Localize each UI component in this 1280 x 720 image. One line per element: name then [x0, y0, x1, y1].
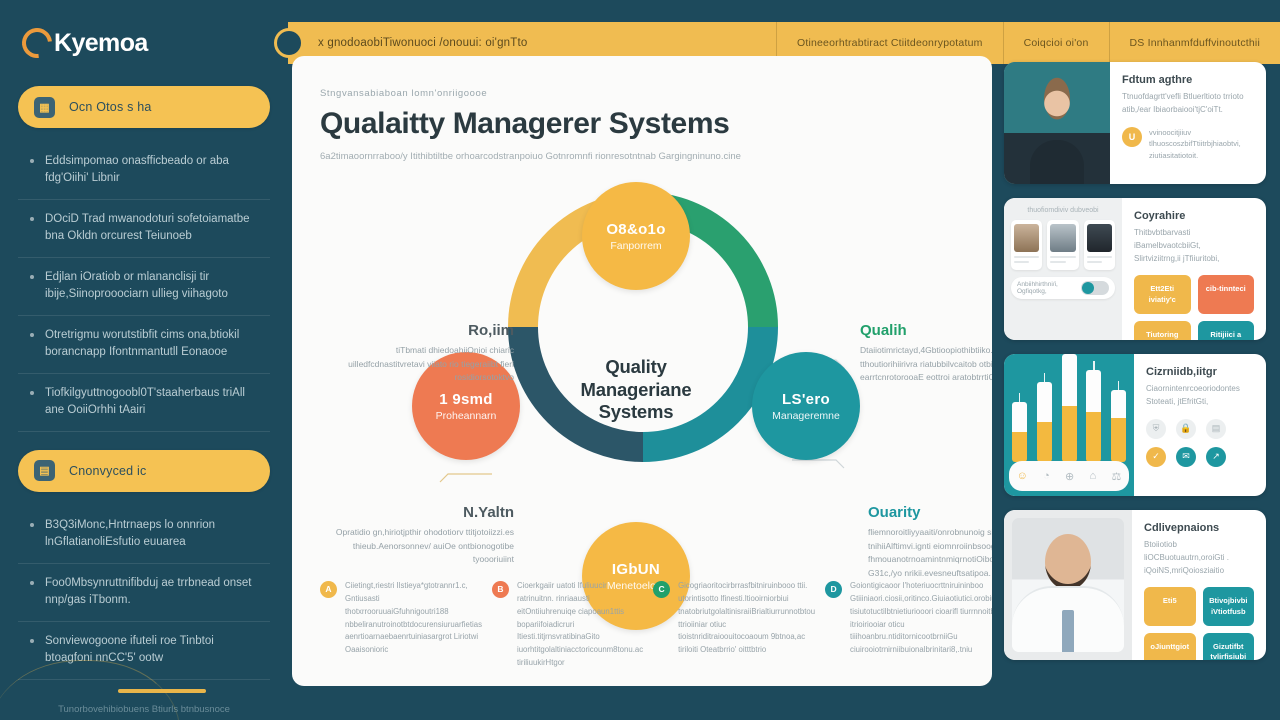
grid-heading: thuofiomdiviv dubveobi: [1011, 207, 1115, 214]
avatar: [1004, 62, 1110, 184]
card-candidates[interactable]: thuofiomdiviv dubveobi: [1004, 198, 1266, 340]
bullet-icon: [30, 159, 34, 163]
placeholder-line: [1050, 261, 1065, 263]
bar: [1012, 393, 1027, 462]
callout-top-right: Qualih Dtaiiotimrictayd,4Gbtioopiothibti…: [860, 322, 992, 385]
avatar: [1087, 224, 1112, 252]
circle-knob-icon[interactable]: [274, 28, 304, 58]
bar-base: [1012, 432, 1027, 462]
card-description: Ttnuofdagrtt'vefli Btluerltioto trrioto …: [1122, 91, 1254, 117]
avatar: [1014, 224, 1039, 252]
chart-bars: [1012, 370, 1126, 462]
sidebar-item-primary[interactable]: ▦ Ocn Otos s ha: [18, 86, 270, 128]
placeholder-line: [1014, 261, 1029, 263]
tab-three[interactable]: DS Innhanmfduffvinoutcthii: [1109, 22, 1280, 64]
card-title: Coyrahire: [1134, 210, 1254, 222]
card-chip[interactable]: U vvinoocitjiiuv tlhuoscoszbifTtiitrbjhi…: [1122, 127, 1254, 162]
specialist-photo: [1004, 510, 1132, 660]
action-button-4[interactable]: Gizutifbt tvlirfisiubi: [1203, 633, 1255, 660]
action-button-1[interactable]: Eti5: [1144, 587, 1196, 625]
chip-badge-icon: U: [1122, 127, 1142, 147]
placeholder-line: [1050, 256, 1075, 258]
sidebar-item-secondary[interactable]: ▤ Cnonvyced ic: [18, 450, 270, 492]
action-button-2[interactable]: Btivojbivbi iVtiotfusb: [1203, 587, 1255, 625]
share-icon[interactable]: ↗: [1206, 447, 1226, 467]
bar-base: [1062, 406, 1077, 462]
accent-bar: [118, 689, 206, 693]
page-subtitle: 6a2timaoornrraboo/y Itithibtiltbe orhoar…: [320, 150, 964, 164]
check-circle-icon[interactable]: ✓: [1146, 447, 1166, 467]
list-item[interactable]: [1011, 220, 1042, 270]
bar-wick: [1118, 381, 1120, 390]
cycle-diagram: O8&o1o Fanporrem LS'ero Manageremne IGbU…: [320, 174, 964, 574]
bar-cap: [1037, 382, 1052, 422]
bullet-icon: [30, 581, 34, 585]
list-item[interactable]: [1047, 220, 1078, 270]
mini-card-row: [1011, 220, 1115, 270]
bar-base: [1037, 422, 1052, 462]
toggle-row[interactable]: Anbiihhirthni/i, Ogfiqotkg,: [1011, 277, 1115, 299]
placeholder-line: [1087, 261, 1102, 263]
logo-swirl-icon: [16, 22, 58, 64]
callout-bottom-left: N.Yaltn Opratidio gn,hiriotjpthir ohodot…: [334, 504, 514, 567]
legend-badge-icon: B: [492, 581, 509, 598]
legend-item[interactable]: D Goiontigicaoor I'hoteriuocrttniruininb…: [825, 580, 992, 670]
bullet-icon: [30, 639, 34, 643]
legend-item[interactable]: A Ciietingt,riestri Ilstieya*gtotrannr1.…: [320, 580, 482, 670]
page-title: Qualaitty Managerer Systems: [320, 107, 964, 141]
action-button-3[interactable]: oJiunttgiot: [1144, 633, 1196, 660]
card-description: Ciaornintenrcoeoriodontes Stoteati, jtEf…: [1146, 383, 1254, 409]
gauge-icon[interactable]: ◔: [1043, 470, 1050, 482]
legend-badge-icon: A: [320, 581, 337, 598]
list-item[interactable]: Edjlan iOratiob or mlananclisji tir ibij…: [18, 258, 270, 316]
bar-chart: ☺ ◔ ⊕ ⌂ ⚖: [1004, 354, 1134, 496]
action-button-3[interactable]: Tiutoring iLijubtih: [1134, 321, 1191, 340]
placeholder-line: [1014, 256, 1039, 258]
sidebar-secondary-list: B3Q3iMonc,Hntrnaeps lo onnrion lnGflatia…: [18, 506, 270, 680]
shield-icon[interactable]: ⛨: [1146, 419, 1166, 439]
bullet-icon: [30, 217, 34, 221]
toggle-switch[interactable]: [1081, 281, 1109, 295]
app-root: Kyemoa ▦ Ocn Otos s ha Eddsimpomao onasf…: [0, 0, 1280, 720]
brand-name: Kyemoa: [54, 29, 148, 58]
card-profile[interactable]: Fdtum agthre Ttnuofdagrtt'vefli Btluerlt…: [1004, 62, 1266, 184]
balance-icon[interactable]: ⚖: [1111, 470, 1121, 483]
left-sidebar: Kyemoa ▦ Ocn Otos s ha Eddsimpomao onasf…: [0, 0, 288, 720]
tab-two[interactable]: Coiqcioi oi'on: [1003, 22, 1109, 64]
sidebar-item-secondary-label: Cnonvyced ic: [69, 464, 146, 478]
card-metrics[interactable]: ☺ ◔ ⊕ ⌂ ⚖ Cizrniidb,iitgr Ciaornintenrco…: [1004, 354, 1266, 496]
list-item[interactable]: [1084, 220, 1115, 270]
sidebar-item-primary-label: Ocn Otos s ha: [69, 100, 152, 114]
card-description: Btoiiotiob liOCBuotuautrn,oroiGti . iQoi…: [1144, 539, 1254, 577]
legend-item[interactable]: C Gicogriaoritocirbrrasfbitniruinbooo tt…: [653, 580, 815, 670]
bullet-icon: [30, 275, 34, 279]
avatar: [1050, 224, 1075, 252]
candidate-grid: thuofiomdiviv dubveobi: [1004, 198, 1122, 340]
bar: [1086, 361, 1101, 462]
eyebrow-text: Stngvansabiaboan lomn'onriigoooe: [320, 88, 964, 99]
clipboard-icon[interactable]: ▤: [1206, 419, 1226, 439]
bar-cap: [1062, 354, 1077, 406]
globe-icon[interactable]: ⊕: [1065, 470, 1074, 483]
profile-photo: [1004, 62, 1110, 184]
avatar: [1012, 518, 1124, 652]
legend-badge-icon: C: [653, 581, 670, 598]
toggle-label: Anbiihhirthni/i, Ogfiqotkg,: [1017, 281, 1081, 295]
bar-cap: [1012, 402, 1027, 432]
chat-icon[interactable]: ✉: [1176, 447, 1196, 467]
callout-top-left: Ro,iim tiTbmati dhiedoahiiOnioi chiaric …: [334, 322, 514, 385]
list-item[interactable]: Otretrigmu worutstibfit cims ona,btiokil…: [18, 316, 270, 374]
bar-wick: [1019, 393, 1021, 402]
button-grid: Eti5 Btivojbivbi iVtiotfusb oJiunttgiot …: [1144, 587, 1254, 660]
list-item[interactable]: B3Q3iMonc,Hntrnaeps lo onnrion lnGflatia…: [18, 506, 270, 564]
bar-base: [1086, 412, 1101, 462]
bar: [1111, 381, 1126, 462]
layers-icon: ▤: [34, 460, 55, 481]
list-item[interactable]: DOciD Trad mwanodoturi sofetoiamatbe bna…: [18, 200, 270, 258]
hospital-icon[interactable]: ⌂: [1090, 470, 1097, 482]
callout-bottom-right: Ouarity fliemnoroitliyyaaiti/onrobnunoig…: [868, 504, 992, 580]
right-rail: Fdtum agthre Ttnuofdagrtt'vefli Btluerlt…: [1004, 62, 1266, 674]
cycle-node-right[interactable]: LS'ero Manageremne: [752, 352, 860, 460]
action-button-2[interactable]: cib-tinnteci: [1198, 275, 1255, 313]
placeholder-line: [1087, 256, 1112, 258]
bar-base: [1111, 418, 1126, 462]
chart-icon-tray: ☺ ◔ ⊕ ⌂ ⚖: [1009, 461, 1129, 491]
card-title: Cizrniidb,iitgr: [1146, 366, 1254, 378]
action-button-4[interactable]: Ritijiici a Ciuroi3b: [1198, 321, 1255, 340]
legend-strip: A Ciietingt,riestri Ilstieya*gtotrannr1.…: [320, 580, 964, 670]
cycle-node-top[interactable]: O8&o1o Fanporrem: [582, 182, 690, 290]
main-content-card: Stngvansabiaboan lomn'onriigoooe Qualait…: [292, 56, 992, 686]
card-specialist[interactable]: Cdlivepnaions Btoiiotiob liOCBuotuautrn,…: [1004, 510, 1266, 660]
bullet-icon: [30, 391, 34, 395]
card-description: Thitbvbtbarvasti iBamelbvaotcbiiGt, Slir…: [1134, 227, 1254, 265]
lock-icon[interactable]: 🔒: [1176, 419, 1196, 439]
grid-icon: ▦: [34, 97, 55, 118]
bar: [1037, 373, 1052, 462]
bar: [1062, 354, 1077, 462]
diagram-center-label: Quality Manageriane Systems: [556, 356, 716, 424]
legend-badge-icon: D: [825, 581, 842, 598]
list-item[interactable]: Tiofkilgyuttnogoobl0T'staaherbaus triAll…: [18, 374, 270, 432]
face-smile-icon[interactable]: ☺: [1017, 470, 1028, 482]
bullet-icon: [30, 523, 34, 527]
sidebar-primary-list: Eddsimpomao onasfficbeado or aba fdg'Oii…: [18, 142, 270, 432]
button-grid: Ett2Eti iviatiy'c cib-tinnteci Tiutoring…: [1134, 275, 1254, 340]
action-button-1[interactable]: Ett2Eti iviatiy'c: [1134, 275, 1191, 313]
icon-rows: ⛨ 🔒 ▤ ✓ ✉ ↗: [1146, 419, 1254, 467]
list-item[interactable]: Foo0Mbsynruttnifibduj ae trrbnead onset …: [18, 564, 270, 622]
list-item[interactable]: Eddsimpomao onasfficbeado or aba fdg'Oii…: [18, 142, 270, 200]
bar-wick: [1044, 373, 1046, 382]
card-title: Fdtum agthre: [1122, 74, 1254, 86]
legend-item[interactable]: B Cioerkgaiir uatoti Ifuliuucir ratrinui…: [492, 580, 643, 670]
breadcrumb: x gnodoaobiTiwonuoci /onouui: oi'gnTto: [318, 37, 527, 49]
bullet-icon: [30, 333, 34, 337]
brand[interactable]: Kyemoa: [22, 28, 270, 58]
bar-cap: [1111, 390, 1126, 418]
bar-wick: [1093, 361, 1095, 370]
tie-shape: [1062, 610, 1074, 652]
card-title: Cdlivepnaions: [1144, 522, 1254, 534]
bar-cap: [1086, 370, 1101, 412]
